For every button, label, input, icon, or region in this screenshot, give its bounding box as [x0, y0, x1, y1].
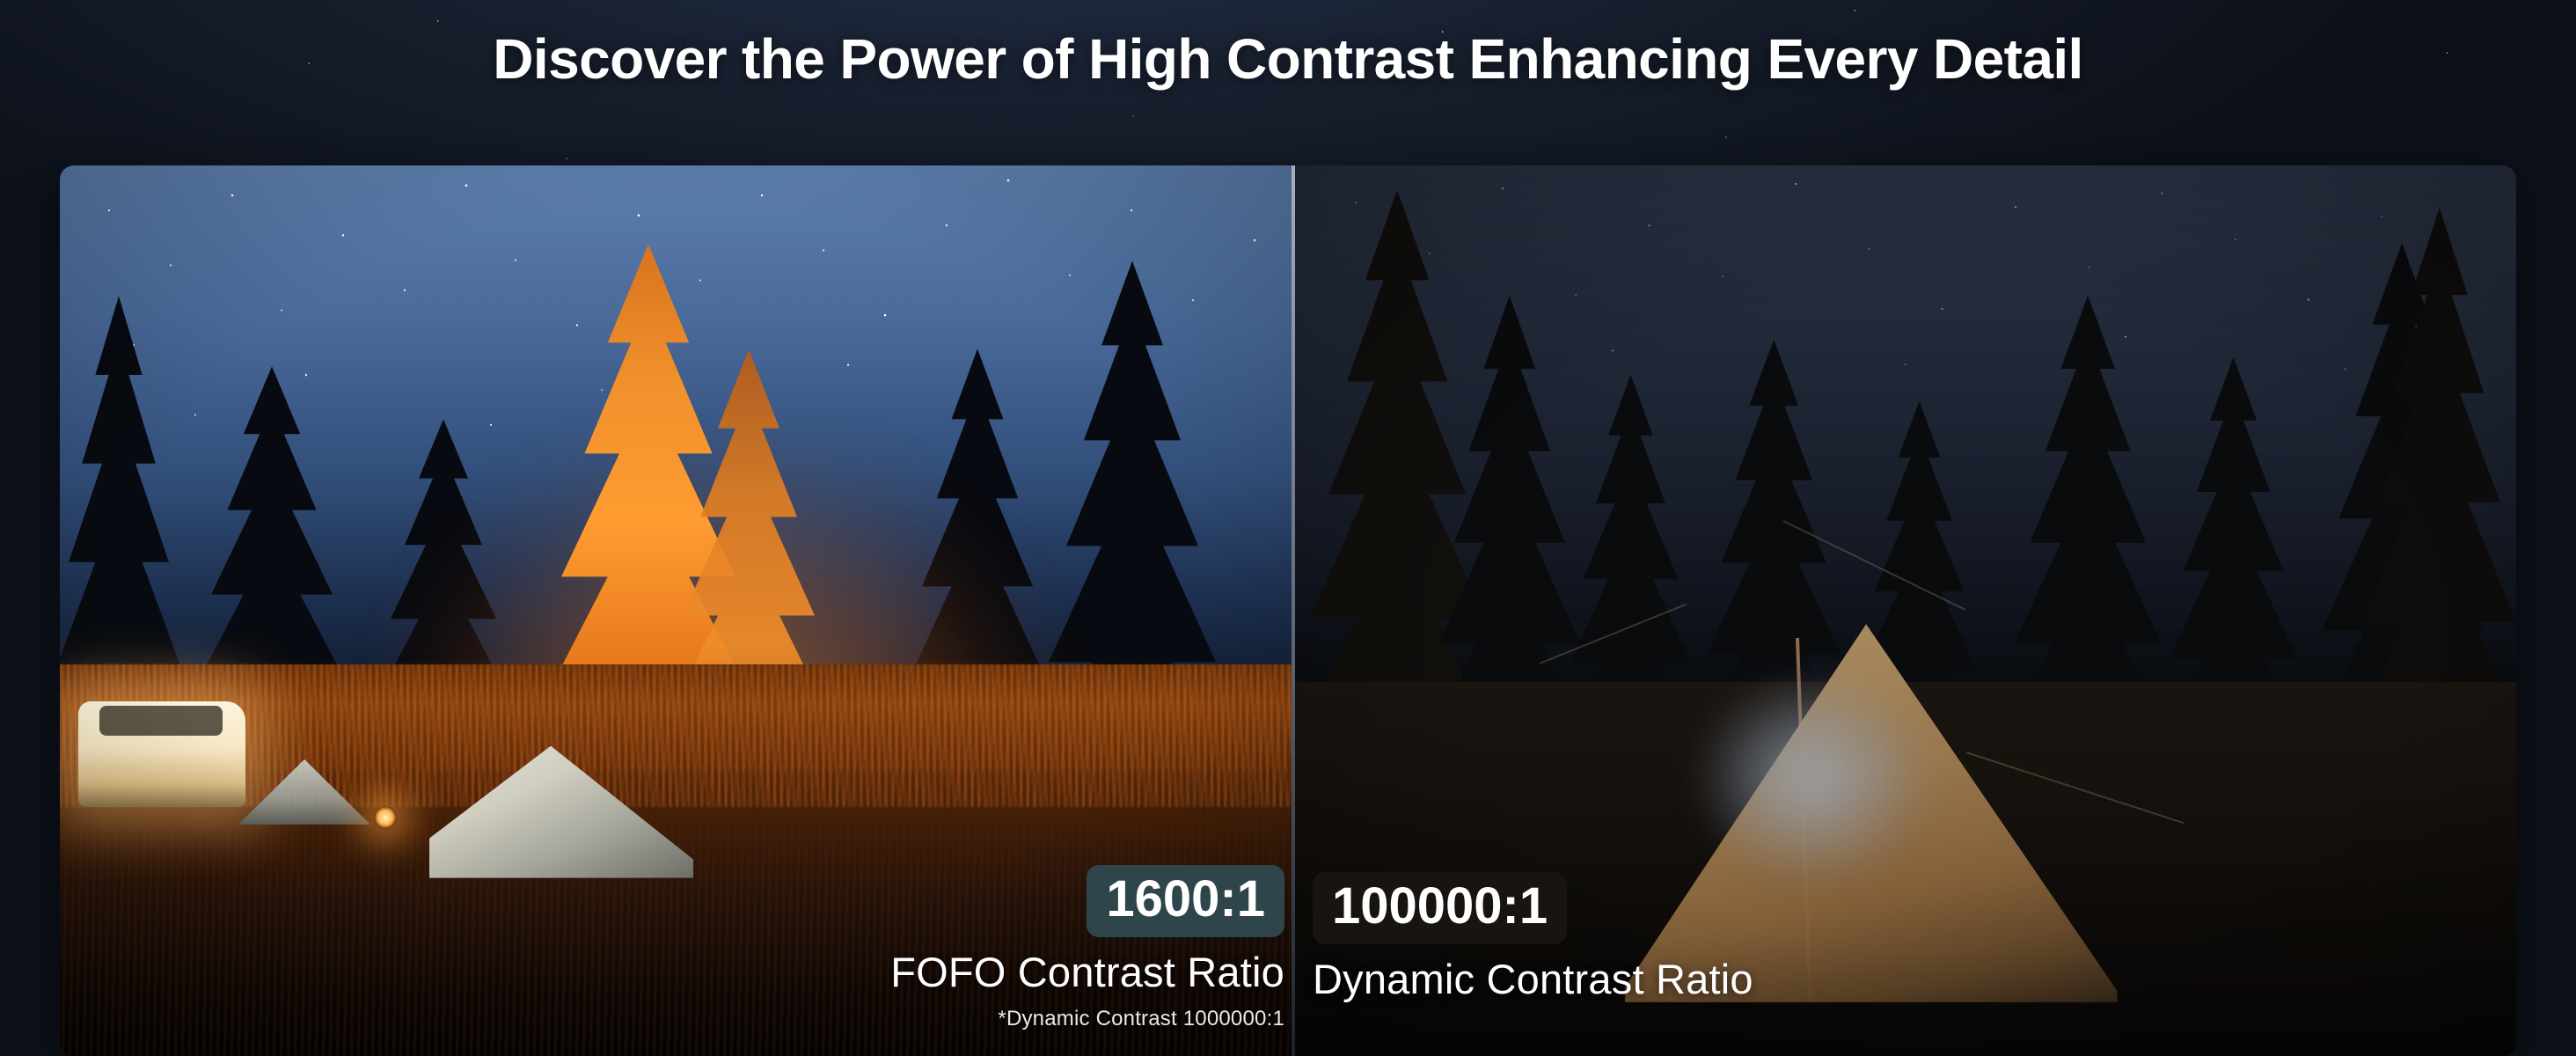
page-title: Discover the Power of High Contrast Enha… — [493, 30, 2082, 89]
left-caption-block: 1600:1 FOFO Contrast Ratio *Dynamic Cont… — [890, 865, 1284, 1031]
right-contrast-badge: 100000:1 — [1313, 872, 1567, 944]
left-contrast-badge: 1600:1 — [1087, 865, 1284, 937]
headline-container: Discover the Power of High Contrast Enha… — [0, 30, 2576, 89]
comparison-panel — [60, 165, 2516, 1056]
left-caption-footnote: *Dynamic Contrast 1000000:1 — [890, 1007, 1284, 1031]
right-caption-block: 100000:1 Dynamic Contrast Ratio — [1313, 872, 1753, 1003]
left-caption-title: FOFO Contrast Ratio — [890, 950, 1284, 996]
contrast-comparison-banner: Discover the Power of High Contrast Enha… — [0, 0, 2576, 1056]
panel-divider — [1292, 165, 1295, 1056]
right-caption-title: Dynamic Contrast Ratio — [1313, 957, 1753, 1003]
